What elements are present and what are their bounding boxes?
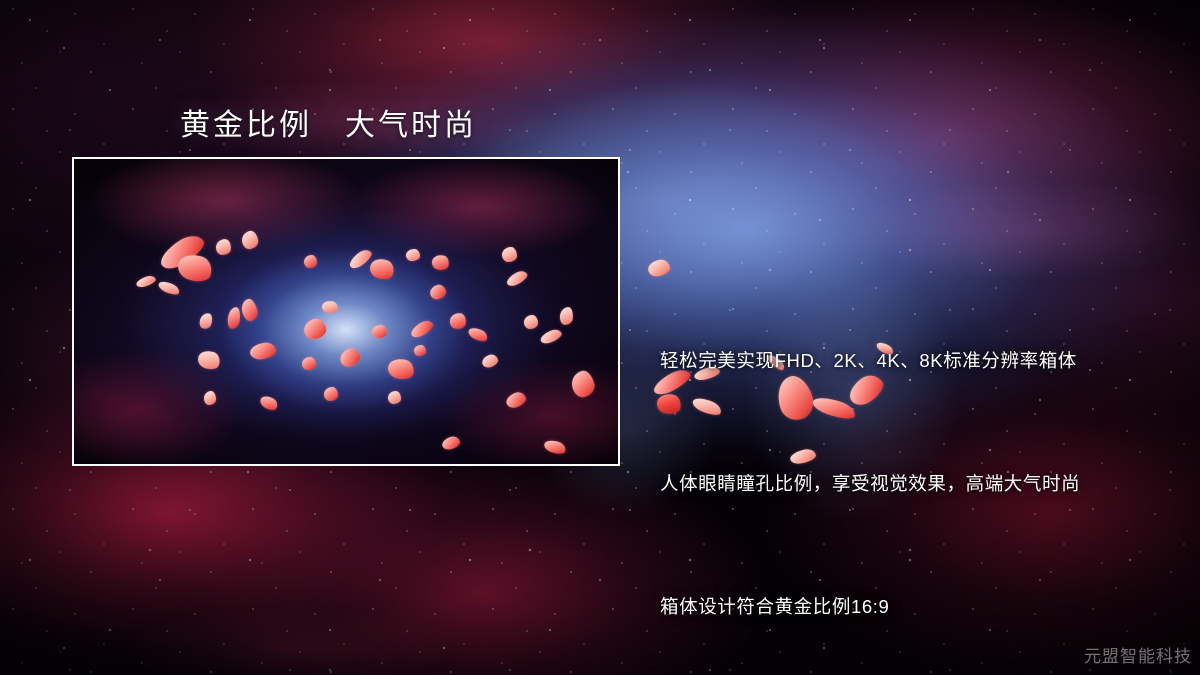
page-title: 黄金比例 大气时尚 bbox=[180, 100, 477, 144]
framed-image-nebula bbox=[74, 159, 618, 464]
body-text-block: 轻松完美实现FHD、2K、4K、8K标准分辨率箱体 人体眼睛瞳孔比例，享受视觉效… bbox=[660, 258, 1080, 675]
body-text-line-2: 人体眼睛瞳孔比例，享受视觉效果，高端大气时尚 bbox=[660, 463, 1080, 504]
framed-image bbox=[72, 157, 620, 466]
slide-canvas: 黄金比例 大气时尚 轻松完美实现FHD、2K、4K、8K标准分辨率箱体 人体眼睛… bbox=[0, 0, 1200, 675]
body-text-line-3: 箱体设计符合黄金比例16:9 bbox=[660, 586, 1080, 627]
watermark: 元盟智能科技 bbox=[1084, 642, 1192, 667]
body-text-line-1: 轻松完美实现FHD、2K、4K、8K标准分辨率箱体 bbox=[660, 340, 1080, 381]
